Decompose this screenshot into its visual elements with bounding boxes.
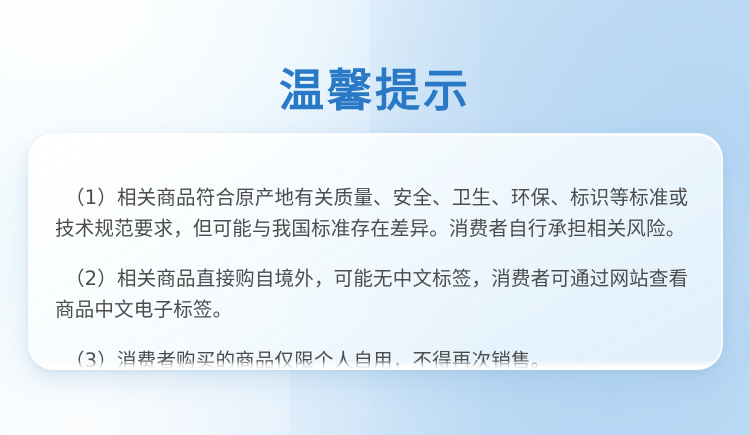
notice-item-2: （2）相关商品直接购自境外，可能无中文标签，消费者可通过网站查看商品中文电子标签… (55, 263, 698, 325)
notice-item-1: （1）相关商品符合原产地有关质量、安全、卫生、环保、标识等标准或技术规范要求，但… (55, 182, 698, 244)
notice-item-3: （3）消费者购买的商品仅限个人自用，不得再次销售。 (55, 345, 698, 371)
notice-list: （1）相关商品符合原产地有关质量、安全、卫生、环保、标识等标准或技术规范要求，但… (55, 162, 698, 370)
notice-card: （1）相关商品符合原产地有关质量、安全、卫生、环保、标识等标准或技术规范要求，但… (28, 133, 723, 370)
page-title-container: 温馨提示 (0, 34, 750, 148)
notice-page: 温馨提示 （1）相关商品符合原产地有关质量、安全、卫生、环保、标识等标准或技术规… (0, 0, 750, 435)
page-title: 温馨提示 (279, 64, 471, 118)
